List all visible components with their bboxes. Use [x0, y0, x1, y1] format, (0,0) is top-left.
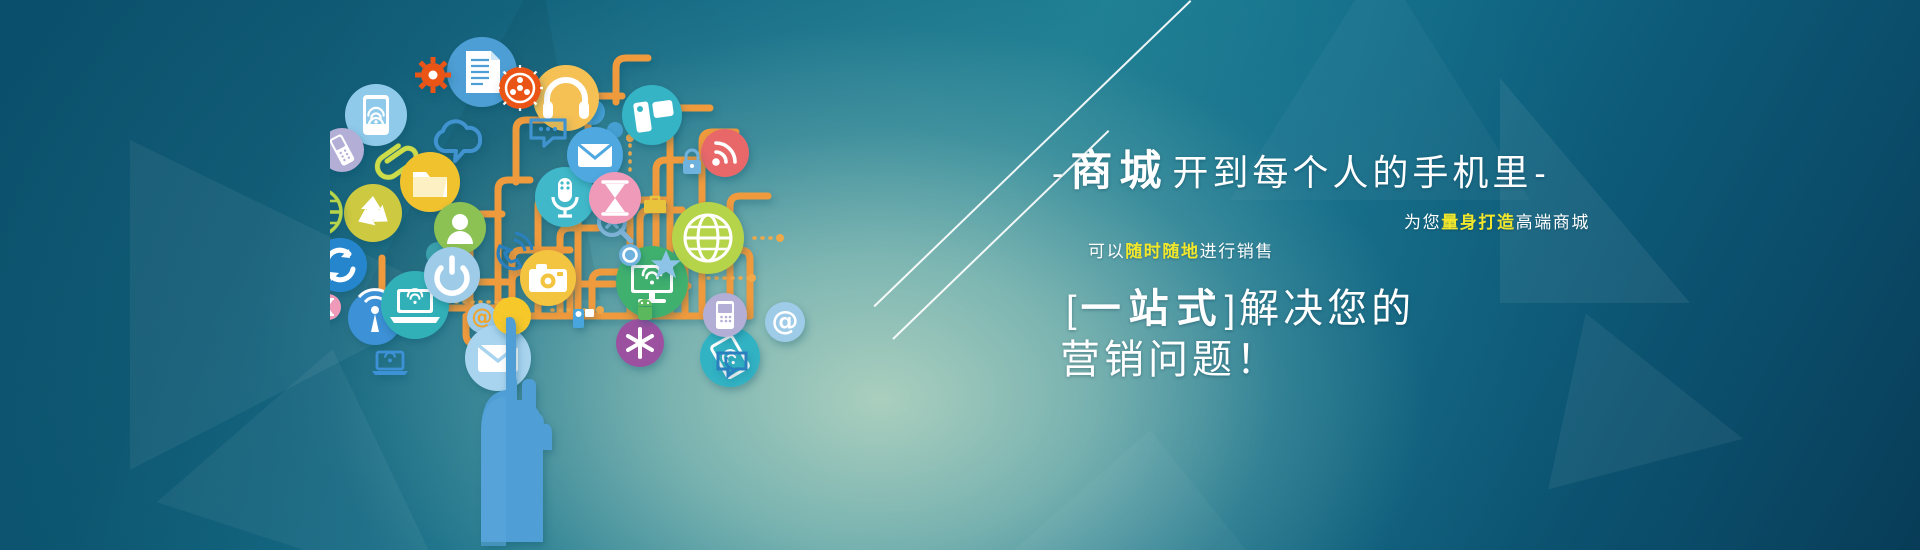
- bracket-open: [: [1066, 289, 1081, 331]
- asterisk-icon: [616, 319, 664, 367]
- envelope-large-icon: [465, 325, 531, 391]
- background-triangle-bottom: [980, 430, 1270, 550]
- hourglass-icon: [589, 172, 641, 224]
- rss-signal-icon: [701, 129, 749, 177]
- hourglass-small-icon: [330, 294, 341, 320]
- film-reel-icon: [497, 65, 543, 111]
- sub-line-1: 为您 量身打造 高端商城: [1050, 210, 1590, 236]
- sub-line-1-suffix: 高端商城: [1516, 210, 1590, 236]
- at-sign-circled-icon: @: [765, 302, 805, 342]
- sub-line-1-prefix: 为您: [1404, 210, 1441, 236]
- user-avatar-icon: [434, 202, 486, 254]
- lock-icon: [683, 150, 701, 174]
- social-media-icon-tree-illustration: @: [330, 10, 890, 550]
- sub-line-1-highlight: 量身打造: [1441, 210, 1515, 236]
- circle-ring-icon: [619, 244, 641, 266]
- sub-line-2-prefix: 可以: [1088, 239, 1125, 265]
- headline-strong: 商城: [1070, 150, 1172, 192]
- big-line-2: 营销问题！: [1050, 335, 1670, 386]
- camera-icon: [520, 250, 576, 306]
- big-line-1-emphasis: 一站式: [1081, 287, 1225, 331]
- recycle-icon: [344, 184, 402, 242]
- refresh-sync-icon: [330, 238, 367, 292]
- globe-icon: [672, 202, 744, 274]
- headline-lead-dash: -: [1050, 157, 1070, 191]
- device-screens-icon: [622, 85, 682, 145]
- laptop-outline-icon: [372, 352, 408, 375]
- sub-line-2: 可以 随时随地 进行销售: [1050, 239, 1670, 265]
- smartphone-small-icon: [703, 293, 747, 337]
- folder-icon: [400, 152, 460, 212]
- power-button-icon: [424, 247, 480, 303]
- android-icon: [638, 299, 652, 320]
- sub-line-2-highlight: 随时随地: [1125, 239, 1199, 265]
- globe-outline-icon: [330, 189, 341, 235]
- promo-copy-block: - 商城 开到每个人的手机里 - 为您 量身打造 高端商城 可以 随时随地 进行…: [1050, 150, 1670, 386]
- svg-text:@: @: [472, 305, 493, 329]
- headline: - 商城 开到每个人的手机里 -: [1050, 150, 1670, 192]
- big-line-1: [一站式]解决您的: [1050, 284, 1670, 335]
- headline-trail-dash: -: [1532, 157, 1552, 191]
- sub-line-2-suffix: 进行销售: [1200, 239, 1274, 265]
- bracket-close: ]: [1225, 289, 1240, 331]
- big-line-1-rest: 解决您的: [1239, 287, 1415, 331]
- svg-text:@: @: [772, 306, 799, 337]
- promo-banner: @: [0, 0, 1920, 550]
- headline-rest: 开到每个人的手机里: [1172, 155, 1532, 191]
- gear-icon: [415, 57, 451, 93]
